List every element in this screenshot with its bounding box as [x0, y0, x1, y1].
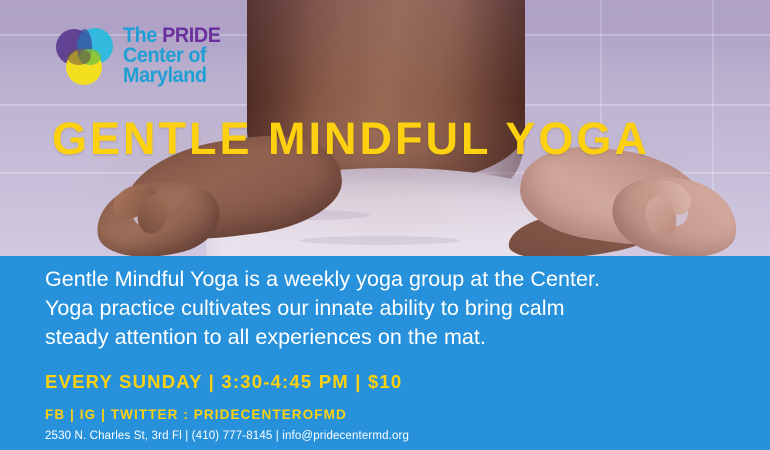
- info-panel: Gentle Mindful Yoga is a weekly yoga gro…: [0, 256, 770, 450]
- logo-line-3: Maryland: [123, 66, 221, 86]
- logo-line-1: The PRIDE: [123, 26, 221, 46]
- description-text: Gentle Mindful Yoga is a weekly yoga gro…: [45, 265, 745, 352]
- three-overlapping-circles-icon: [55, 25, 117, 87]
- logo-overlap-purple-yellow: [67, 49, 91, 65]
- description-line-2: Yoga practice cultivates our innate abil…: [45, 294, 745, 323]
- yoga-event-flyer: The PRIDE Center of Maryland GENTLE MIND…: [0, 0, 770, 450]
- pride-center-logo[interactable]: The PRIDE Center of Maryland: [55, 20, 270, 92]
- contact-info[interactable]: 2530 N. Charles St, 3rd Fl | (410) 777-8…: [45, 430, 409, 442]
- logo-wordmark: The PRIDE Center of Maryland: [123, 26, 221, 85]
- schedule-and-price: EVERY SUNDAY | 3:30-4:45 PM | $10: [45, 371, 402, 393]
- flyer-headline: GENTLE MINDFUL YOGA: [52, 113, 732, 165]
- description-line-3: steady attention to all experiences on t…: [45, 323, 745, 352]
- fabric-fold: [300, 236, 460, 245]
- social-handles[interactable]: FB | IG | TWITTER : PRIDECENTEROFMD: [45, 407, 347, 422]
- description-line-1: Gentle Mindful Yoga is a weekly yoga gro…: [45, 265, 745, 294]
